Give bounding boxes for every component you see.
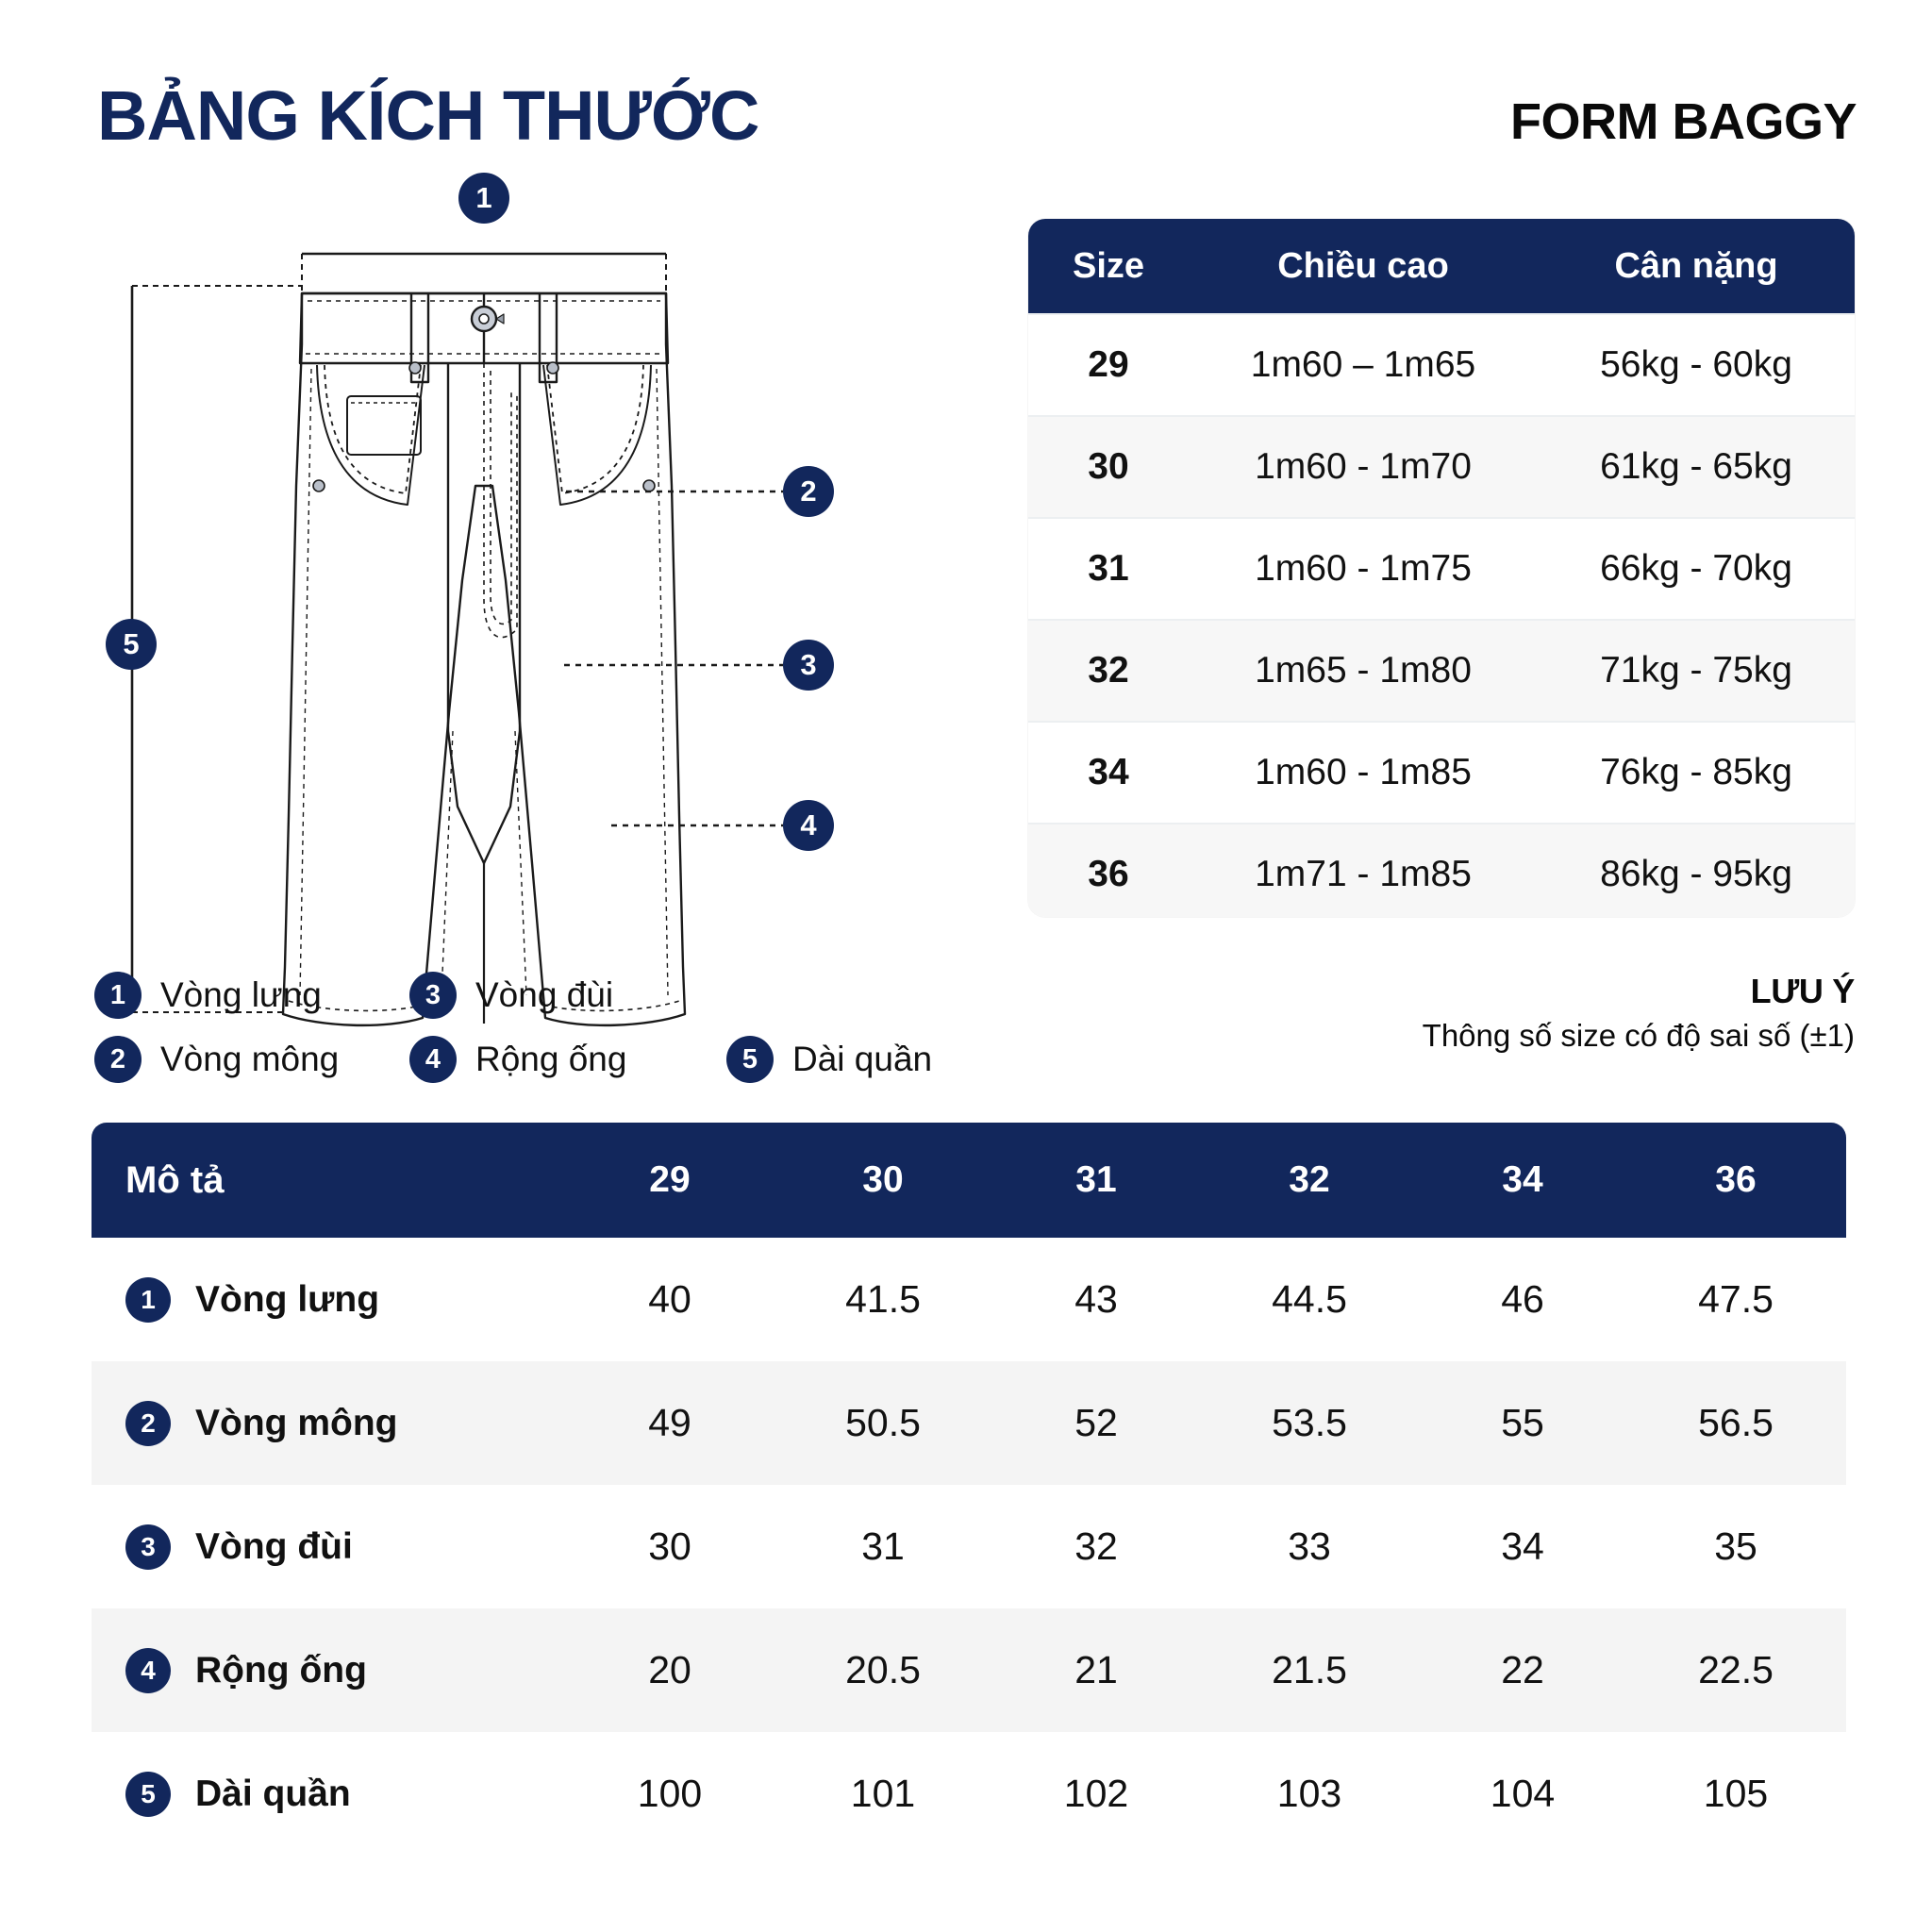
note-block: LƯU Ý Thông số size có độ sai số (±1)	[1028, 972, 1855, 1054]
row-badge-4: 4	[125, 1648, 171, 1693]
cell-36: 47.5	[1629, 1277, 1842, 1322]
cell-height: 1m60 – 1m65	[1189, 344, 1538, 386]
table-row: 34 1m60 - 1m85 76kg - 85kg	[1028, 721, 1855, 823]
table-row: 4 Rộng ống 20 20.5 21 21.5 22 22.5	[92, 1608, 1846, 1732]
legend-item-3: 3 Vòng đùi	[409, 972, 613, 1019]
cell-30: 50.5	[776, 1401, 990, 1445]
cell-weight: 56kg - 60kg	[1538, 344, 1855, 386]
table-row: 31 1m60 - 1m75 66kg - 70kg	[1028, 517, 1855, 619]
measurement-table: Mô tả 29 30 31 32 34 36 1 Vòng lưng 40 4…	[92, 1123, 1846, 1856]
cell-weight: 71kg - 75kg	[1538, 650, 1855, 691]
cell-weight: 86kg - 95kg	[1538, 854, 1855, 895]
col-header-weight: Cân nặng	[1538, 246, 1855, 287]
row-badge-1: 1	[125, 1277, 171, 1323]
cell-weight: 61kg - 65kg	[1538, 446, 1855, 488]
legend-badge-1: 1	[94, 972, 142, 1019]
col-header-description: Mô tả	[92, 1159, 563, 1202]
cell-31: 32	[990, 1524, 1203, 1569]
row-name-2: Vòng mông	[195, 1403, 397, 1444]
legend-item-5: 5 Dài quần	[726, 1036, 932, 1083]
legend-label-2: Vòng mông	[160, 1040, 339, 1079]
cell-size: 34	[1028, 752, 1189, 793]
row-name-4: Rộng ống	[195, 1650, 367, 1691]
col-header-height: Chiều cao	[1189, 246, 1538, 287]
table-row: 29 1m60 – 1m65 56kg - 60kg	[1028, 313, 1855, 415]
note-title: LƯU Ý	[1028, 972, 1855, 1011]
cell-height: 1m60 - 1m70	[1189, 446, 1538, 488]
cell-36: 56.5	[1629, 1401, 1842, 1445]
cell-32: 53.5	[1203, 1401, 1416, 1445]
cell-30: 20.5	[776, 1648, 990, 1692]
row-name-3: Vòng đùi	[195, 1526, 353, 1568]
size-height-weight-card: Size Chiều cao Cân nặng 29 1m60 – 1m65 5…	[1028, 219, 1855, 917]
cell-31: 102	[990, 1772, 1203, 1816]
legend-label-1: Vòng lưng	[160, 975, 322, 1015]
cell-29: 30	[563, 1524, 776, 1569]
cell-height: 1m60 - 1m75	[1189, 548, 1538, 590]
col-header-36: 36	[1629, 1159, 1842, 1201]
form-name-label: FORM BAGGY	[1510, 92, 1857, 151]
cell-29: 49	[563, 1401, 776, 1445]
callout-badge-5: 5	[106, 619, 157, 670]
cell-weight: 66kg - 70kg	[1538, 548, 1855, 590]
cell-36: 22.5	[1629, 1648, 1842, 1692]
measurement-table-header: Mô tả 29 30 31 32 34 36	[92, 1123, 1846, 1238]
cell-30: 101	[776, 1772, 990, 1816]
cell-31: 21	[990, 1648, 1203, 1692]
cell-size: 36	[1028, 854, 1189, 895]
col-header-size: Size	[1028, 246, 1189, 287]
col-header-32: 32	[1203, 1159, 1416, 1201]
page-header: BẢNG KÍCH THƯỚC FORM BAGGY	[0, 79, 1932, 183]
callout-badge-2: 2	[783, 466, 834, 517]
cell-size: 32	[1028, 650, 1189, 691]
cell-31: 52	[990, 1401, 1203, 1445]
legend-label-4: Rộng ống	[475, 1040, 626, 1079]
row-description: 3 Vòng đùi	[92, 1524, 563, 1570]
legend-badge-2: 2	[94, 1036, 142, 1083]
row-badge-3: 3	[125, 1524, 171, 1570]
row-badge-5: 5	[125, 1772, 171, 1817]
callout-badge-1: 1	[458, 173, 509, 224]
note-text: Thông số size có độ sai số (±1)	[1028, 1018, 1855, 1054]
cell-size: 31	[1028, 548, 1189, 590]
cell-34: 22	[1416, 1648, 1629, 1692]
col-header-30: 30	[776, 1159, 990, 1201]
cell-size: 30	[1028, 446, 1189, 488]
callout-badge-4: 4	[783, 800, 834, 851]
row-badge-2: 2	[125, 1401, 171, 1446]
cell-size: 29	[1028, 344, 1189, 386]
legend-label-5: Dài quần	[792, 1040, 932, 1079]
cell-weight: 76kg - 85kg	[1538, 752, 1855, 793]
cell-29: 100	[563, 1772, 776, 1816]
cell-30: 41.5	[776, 1277, 990, 1322]
cell-height: 1m71 - 1m85	[1189, 854, 1538, 895]
cell-29: 40	[563, 1277, 776, 1322]
legend-badge-3: 3	[409, 972, 457, 1019]
legend-badge-4: 4	[409, 1036, 457, 1083]
row-name-5: Dài quần	[195, 1774, 351, 1815]
cell-32: 21.5	[1203, 1648, 1416, 1692]
cell-34: 46	[1416, 1277, 1629, 1322]
table-row: 32 1m65 - 1m80 71kg - 75kg	[1028, 619, 1855, 721]
table-row: 30 1m60 - 1m70 61kg - 65kg	[1028, 415, 1855, 517]
cell-32: 33	[1203, 1524, 1416, 1569]
cell-30: 31	[776, 1524, 990, 1569]
callout-badge-3: 3	[783, 640, 834, 691]
cell-31: 43	[990, 1277, 1203, 1322]
cell-32: 103	[1203, 1772, 1416, 1816]
size-chart-page: BẢNG KÍCH THƯỚC FORM BAGGY	[0, 0, 1932, 1932]
table-row: 3 Vòng đùi 30 31 32 33 34 35	[92, 1485, 1846, 1608]
legend-item-4: 4 Rộng ống	[409, 1036, 626, 1083]
diagram-legend: 1 Vòng lưng 2 Vòng mông 3 Vòng đùi 4 Rộn…	[94, 972, 943, 1094]
table-row: 36 1m71 - 1m85 86kg - 95kg	[1028, 823, 1855, 917]
page-title: BẢNG KÍCH THƯỚC	[97, 79, 758, 153]
row-name-1: Vòng lưng	[195, 1279, 379, 1321]
table-row: 1 Vòng lưng 40 41.5 43 44.5 46 47.5	[92, 1238, 1846, 1361]
cell-34: 55	[1416, 1401, 1629, 1445]
cell-36: 35	[1629, 1524, 1842, 1569]
cell-32: 44.5	[1203, 1277, 1416, 1322]
row-description: 1 Vòng lưng	[92, 1277, 563, 1323]
row-description: 5 Dài quần	[92, 1772, 563, 1817]
col-header-34: 34	[1416, 1159, 1629, 1201]
col-header-description-label: Mô tả	[125, 1159, 224, 1202]
row-description: 4 Rộng ống	[92, 1648, 563, 1693]
row-description: 2 Vòng mông	[92, 1401, 563, 1446]
table-row: 2 Vòng mông 49 50.5 52 53.5 55 56.5	[92, 1361, 1846, 1485]
cell-height: 1m65 - 1m80	[1189, 650, 1538, 691]
legend-item-2: 2 Vòng mông	[94, 1036, 339, 1083]
col-header-31: 31	[990, 1159, 1203, 1201]
cell-29: 20	[563, 1648, 776, 1692]
size-card-header-row: Size Chiều cao Cân nặng	[1028, 219, 1855, 313]
legend-item-1: 1 Vòng lưng	[94, 972, 322, 1019]
cell-34: 104	[1416, 1772, 1629, 1816]
cell-36: 105	[1629, 1772, 1842, 1816]
cell-34: 34	[1416, 1524, 1629, 1569]
col-header-29: 29	[563, 1159, 776, 1201]
legend-badge-5: 5	[726, 1036, 774, 1083]
table-row: 5 Dài quần 100 101 102 103 104 105	[92, 1732, 1846, 1856]
legend-label-3: Vòng đùi	[475, 975, 613, 1015]
cell-height: 1m60 - 1m85	[1189, 752, 1538, 793]
